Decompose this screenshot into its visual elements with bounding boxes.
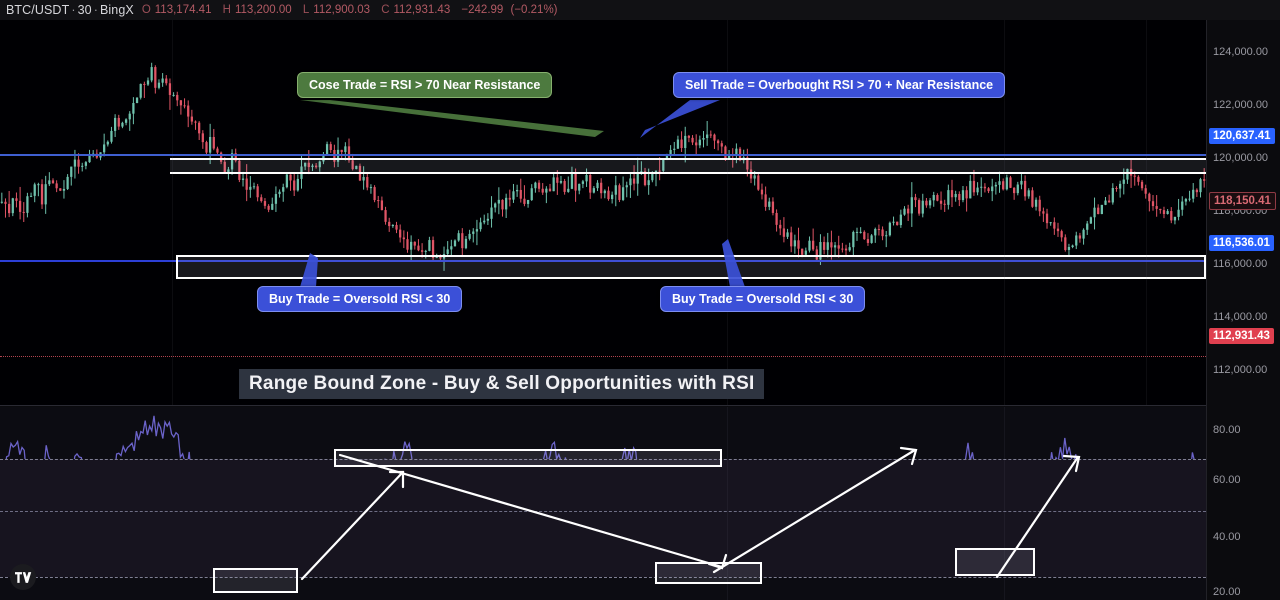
rsi-indicator-pane[interactable] xyxy=(0,407,1206,600)
session-separator xyxy=(1146,20,1147,405)
price-tick-label: 116,000.00 xyxy=(1213,258,1267,270)
tradingview-logo-icon[interactable] xyxy=(10,564,36,590)
symbol-ticker: BTC/USDT xyxy=(6,3,69,17)
symbol-separator-1: · xyxy=(71,3,75,17)
resistance-price-badge[interactable]: 120,637.41 xyxy=(1209,128,1275,144)
price-scale[interactable]: 124,000.00122,000.00120,000.00118,000.00… xyxy=(1206,20,1280,600)
price-chart-pane[interactable] xyxy=(0,20,1206,405)
rsi-tick-label: 20.00 xyxy=(1213,586,1241,598)
low-key: L xyxy=(303,4,309,16)
resistance-zone-fill xyxy=(170,160,1206,172)
price-tick-label: 122,000.00 xyxy=(1213,99,1268,111)
resistance-zone-bottom-edge[interactable] xyxy=(170,172,1206,174)
close-value: 112,931.43 xyxy=(394,4,451,16)
price-tick-label: 124,000.00 xyxy=(1213,46,1268,58)
last-price-badge[interactable]: 112,931.43 xyxy=(1209,328,1274,344)
callout-buy-trade-2[interactable]: Buy Trade = Oversold RSI < 30 xyxy=(660,286,865,312)
callout-close-trade[interactable]: Cose Trade = RSI > 70 Near Resistance xyxy=(297,72,552,98)
session-separator xyxy=(172,20,173,405)
price-tick-label: 120,000.00 xyxy=(1213,152,1268,164)
tradingview-chart-screen: BTC/USDT·30·BingX O113,174.41 H113,200.0… xyxy=(0,0,1280,600)
high-key: H xyxy=(223,4,231,16)
callout-sell-trade-label: Sell Trade = Overbought RSI > 70 + Near … xyxy=(685,78,993,92)
arrow-up-1 xyxy=(302,472,403,579)
arrow-down-1 xyxy=(340,455,722,567)
change-percent-value: (−0.21%) xyxy=(511,4,558,16)
change-value: −242.99 xyxy=(461,4,503,16)
candlestick-series xyxy=(0,20,1206,405)
callout-sell-trade[interactable]: Sell Trade = Overbought RSI > 70 + Near … xyxy=(673,72,1005,98)
crosshair-price-badge[interactable]: 118,150.41 xyxy=(1209,192,1276,210)
pane-divider[interactable] xyxy=(0,405,1206,406)
callout-buy-trade-1-label: Buy Trade = Oversold RSI < 30 xyxy=(269,292,450,306)
support-price-badge[interactable]: 116,536.01 xyxy=(1209,235,1274,251)
symbol-separator-2: · xyxy=(94,3,98,17)
callout-buy-trade-1[interactable]: Buy Trade = Oversold RSI < 30 xyxy=(257,286,462,312)
rsi-tick-label: 40.00 xyxy=(1213,531,1241,543)
callout-close-trade-label: Cose Trade = RSI > 70 Near Resistance xyxy=(309,78,540,92)
symbol-interval: 30 xyxy=(78,3,92,17)
support-zone-box[interactable] xyxy=(176,255,1206,279)
callout-buy-trade-2-label: Buy Trade = Oversold RSI < 30 xyxy=(672,292,853,306)
page-title: Range Bound Zone - Buy & Sell Opportunit… xyxy=(249,373,754,394)
open-value: 113,174.41 xyxy=(155,4,212,16)
high-value: 113,200.00 xyxy=(235,4,292,16)
symbol-header-bar: BTC/USDT·30·BingX O113,174.41 H113,200.0… xyxy=(0,0,1280,20)
rsi-tick-label: 60.00 xyxy=(1213,474,1241,486)
rsi-trend-arrows xyxy=(0,407,1206,600)
symbol-title[interactable]: BTC/USDT·30·BingX xyxy=(6,3,134,17)
page-title-banner: Range Bound Zone - Buy & Sell Opportunit… xyxy=(239,369,764,399)
low-value: 112,900.03 xyxy=(313,4,370,16)
price-tick-label: 114,000.00 xyxy=(1213,311,1267,323)
ohlc-readout: O113,174.41 H113,200.00 L112,900.03 C112… xyxy=(142,4,562,16)
symbol-exchange: BingX xyxy=(100,3,134,17)
resistance-level-line[interactable] xyxy=(0,154,1206,156)
arrow-up-2 xyxy=(714,450,915,572)
rsi-tick-label: 80.00 xyxy=(1213,424,1241,436)
price-tick-label: 112,000.00 xyxy=(1213,364,1267,376)
close-key: C xyxy=(381,4,389,16)
open-key: O xyxy=(142,4,151,16)
last-price-line xyxy=(0,356,1206,357)
arrow-up-3 xyxy=(997,457,1078,577)
